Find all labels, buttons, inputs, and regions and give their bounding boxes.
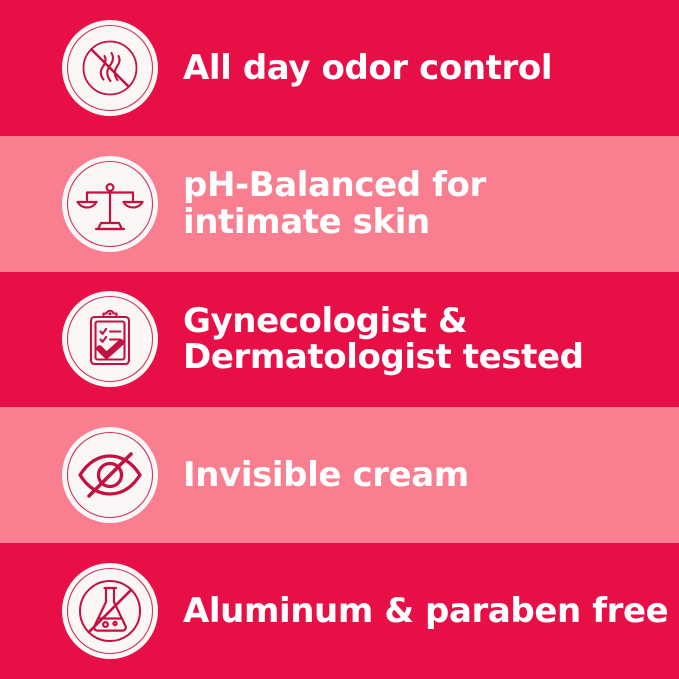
- icon-container-2: [60, 156, 160, 252]
- no-flask-icon: [65, 566, 155, 656]
- benefit-label-3: Gynecologist & Dermatologist tested: [183, 303, 584, 376]
- icon-container-4: [60, 427, 160, 523]
- benefit-row-invisible: Invisible cream: [0, 407, 679, 543]
- benefit-label-1: All day odor control: [183, 50, 552, 87]
- benefit-label-2: pH-Balanced for intimate skin: [183, 167, 486, 240]
- benefits-banner: All day odor control: [0, 0, 679, 679]
- benefit-row-tested: Gynecologist & Dermatologist tested: [0, 272, 679, 408]
- benefit-row-odor-control: All day odor control: [0, 0, 679, 136]
- benefit-label-5: Aluminum & paraben free: [183, 593, 668, 630]
- icon-disc-5: [62, 563, 158, 659]
- icon-disc-4: [62, 427, 158, 523]
- eye-slash-icon: [65, 430, 155, 520]
- benefit-row-ph-balanced: pH-Balanced for intimate skin: [0, 136, 679, 272]
- benefit-label-4: Invisible cream: [183, 457, 469, 494]
- benefit-row-paraben-free: Aluminum & paraben free: [0, 543, 679, 679]
- no-odor-icon: [65, 23, 155, 113]
- balance-scale-icon: [65, 159, 155, 249]
- icon-container-3: [60, 291, 160, 387]
- icon-disc-1: [62, 20, 158, 116]
- icon-container-1: [60, 20, 160, 116]
- icon-disc-2: [62, 156, 158, 252]
- icon-container-5: [60, 563, 160, 659]
- icon-disc-3: [62, 291, 158, 387]
- clipboard-check-icon: [65, 294, 155, 384]
